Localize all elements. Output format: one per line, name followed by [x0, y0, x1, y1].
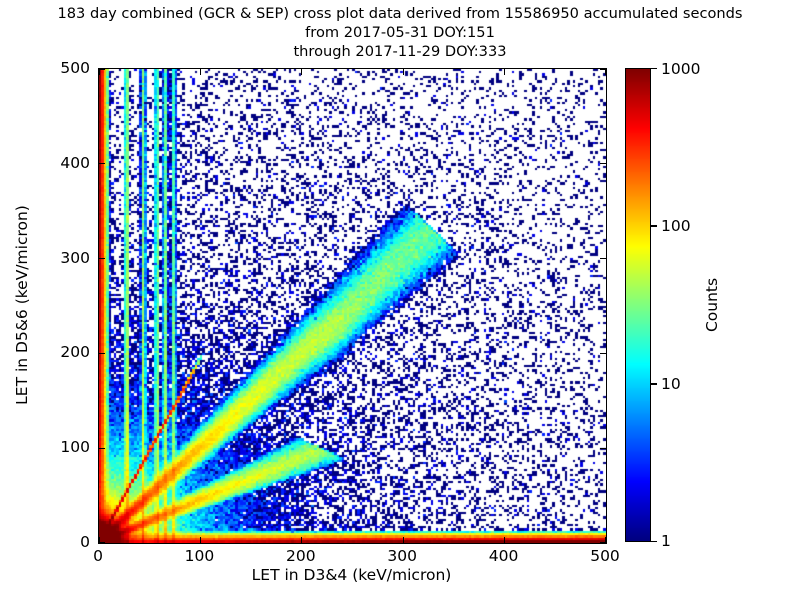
- x-tick-mark: [301, 69, 302, 75]
- colorbar-tick-mark: [651, 383, 657, 384]
- colorbar-tick-mark: [651, 541, 657, 542]
- y-tick-label: 100: [40, 438, 90, 456]
- y-tick-label: 500: [40, 59, 90, 77]
- colorbar-tick-label: 10: [661, 375, 681, 393]
- y-tick-mark: [99, 258, 105, 259]
- y-axis-label-text: LET in D5&6 (keV/micron): [13, 205, 31, 405]
- figure-canvas: 183 day combined (GCR & SEP) cross plot …: [0, 0, 800, 600]
- x-tick-label: 500: [590, 547, 620, 565]
- x-tick-mark: [403, 537, 404, 543]
- y-tick-mark: [99, 163, 105, 164]
- colorbar-tick-mark: [651, 68, 657, 69]
- y-tick-mark: [99, 353, 105, 354]
- y-tick-mark: [600, 448, 606, 449]
- colorbar: 1101001000: [625, 68, 651, 542]
- y-tick-mark: [99, 68, 105, 69]
- x-tick-mark: [403, 69, 404, 75]
- colorbar-tick-label: 100: [661, 217, 691, 235]
- title-line-2: from 2017-05-31 DOY:151: [0, 23, 800, 42]
- y-tick-mark: [600, 163, 606, 164]
- colorbar-title-text: Counts: [703, 278, 721, 332]
- x-tick-mark: [301, 537, 302, 543]
- y-tick-mark: [99, 448, 105, 449]
- plot-area: [98, 68, 607, 544]
- chart-title: 183 day combined (GCR & SEP) cross plot …: [0, 4, 800, 61]
- y-tick-mark: [600, 542, 606, 543]
- y-tick-label: 200: [40, 343, 90, 361]
- colorbar-tick-mark: [651, 225, 657, 226]
- colorbar-gradient: [625, 68, 651, 542]
- x-tick-mark: [98, 69, 99, 75]
- x-tick-label: 300: [387, 547, 417, 565]
- x-tick-label: 400: [489, 547, 519, 565]
- x-tick-mark: [200, 537, 201, 543]
- y-tick-mark: [600, 353, 606, 354]
- y-tick-label: 0: [40, 533, 90, 551]
- x-tick-label: 200: [286, 547, 316, 565]
- x-tick-label: 100: [185, 547, 215, 565]
- y-tick-mark: [600, 68, 606, 69]
- x-tick-mark: [504, 69, 505, 75]
- title-line-3: through 2017-11-29 DOY:333: [0, 42, 800, 61]
- title-line-1: 183 day combined (GCR & SEP) cross plot …: [0, 4, 800, 23]
- y-tick-mark: [99, 542, 105, 543]
- x-tick-mark: [605, 69, 606, 75]
- y-tick-label: 400: [40, 154, 90, 172]
- x-axis-label: LET in D3&4 (keV/micron): [98, 566, 605, 584]
- colorbar-tick-label: 1: [661, 532, 671, 550]
- y-tick-label: 300: [40, 249, 90, 267]
- y-tick-mark: [600, 258, 606, 259]
- x-tick-mark: [200, 69, 201, 75]
- colorbar-tick-label: 1000: [661, 60, 700, 78]
- density-scatter-plot: [99, 69, 606, 543]
- x-tick-mark: [504, 537, 505, 543]
- x-tick-label: 0: [93, 547, 103, 565]
